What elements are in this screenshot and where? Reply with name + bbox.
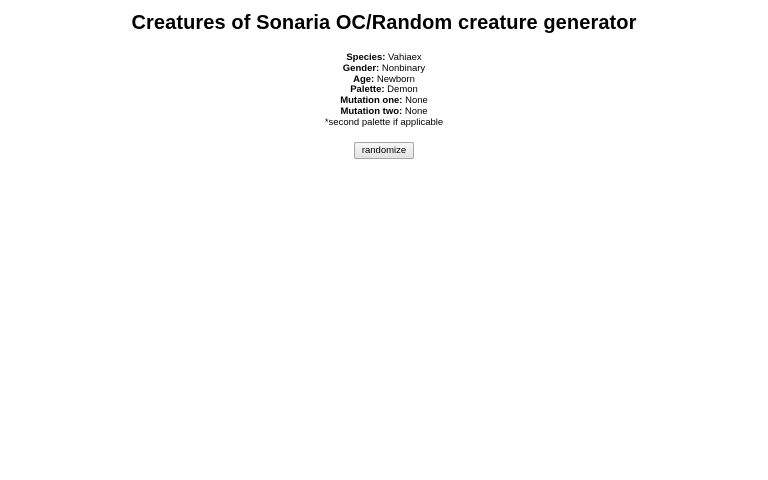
stat-value-mutation-one: None xyxy=(405,95,428,106)
stat-label-mutation-two: Mutation two: xyxy=(340,106,402,117)
page-title: Creatures of Sonaria OC/Random creature … xyxy=(0,0,768,35)
randomize-button[interactable]: randomize xyxy=(354,142,414,159)
stat-label-species: Species: xyxy=(346,52,385,63)
creature-stats-list: Species: Vahiaex Gender: Nonbinary Age: … xyxy=(0,35,768,129)
stat-value-age: Newborn xyxy=(377,74,415,85)
stat-label-palette: Palette: xyxy=(350,84,384,95)
stat-label-age: Age: xyxy=(353,74,374,85)
palette-footnote: *second palette if applicable xyxy=(0,118,768,129)
stat-label-mutation-one: Mutation one: xyxy=(340,95,402,106)
stat-label-gender: Gender: xyxy=(343,63,379,74)
stat-value-mutation-two: None xyxy=(405,106,428,117)
page-root: Creatures of Sonaria OC/Random creature … xyxy=(0,0,768,480)
stat-value-gender: Nonbinary xyxy=(382,63,425,74)
stat-value-species: Vahiaex xyxy=(388,52,422,63)
button-row: randomize xyxy=(0,129,768,159)
stat-value-palette: Demon xyxy=(387,84,418,95)
